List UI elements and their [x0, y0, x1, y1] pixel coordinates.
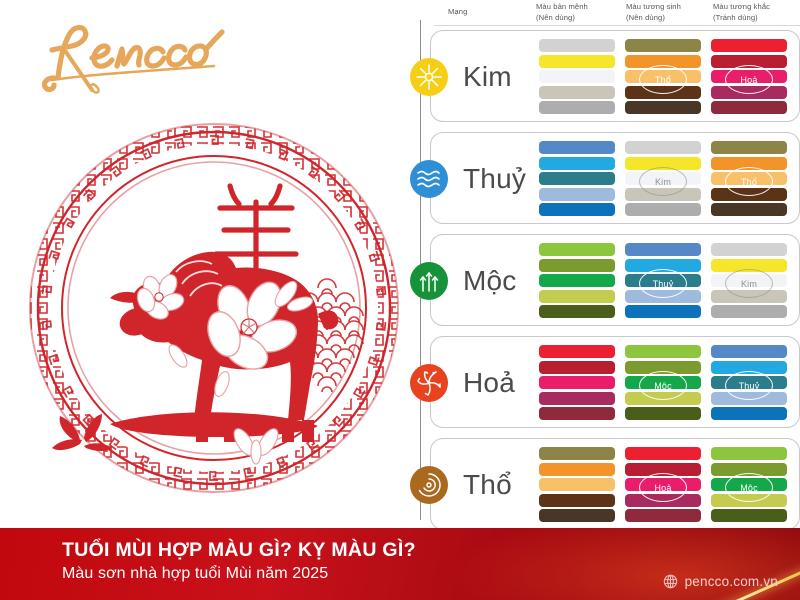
swatch[interactable] — [539, 407, 615, 420]
wood-sprout-icon — [407, 259, 451, 303]
swatch[interactable] — [711, 203, 787, 216]
swatch-group-kim-own[interactable] — [539, 39, 615, 114]
swatch[interactable] — [625, 243, 701, 256]
swatch[interactable] — [625, 188, 701, 201]
swatch[interactable] — [625, 376, 701, 389]
zodiac-goat-illustration — [18, 108, 410, 508]
swatch[interactable] — [625, 407, 701, 420]
swatch[interactable] — [539, 376, 615, 389]
table-row-hoa[interactable]: Hoả Mộc Thuỷ — [430, 336, 800, 428]
swatch[interactable] — [539, 290, 615, 303]
swatch[interactable] — [711, 305, 787, 318]
swatch[interactable] — [625, 55, 701, 68]
fire-burst-icon — [407, 361, 451, 405]
swatch[interactable] — [625, 259, 701, 272]
swatch[interactable] — [625, 39, 701, 52]
pencco-logo — [22, 16, 232, 94]
swatch[interactable] — [625, 101, 701, 114]
swatch[interactable] — [625, 274, 701, 287]
swatch[interactable] — [625, 463, 701, 476]
swatch[interactable] — [625, 361, 701, 374]
swatch[interactable] — [711, 188, 787, 201]
swatch[interactable] — [539, 345, 615, 358]
swatch[interactable] — [711, 243, 787, 256]
swatch[interactable] — [625, 141, 701, 154]
swatch[interactable] — [539, 86, 615, 99]
swatch-group-tho-conflicting[interactable]: Mộc — [711, 447, 787, 525]
swatch[interactable] — [711, 494, 787, 507]
swatch[interactable] — [539, 188, 615, 201]
swatch-group-thuy-conflicting[interactable]: Thổ — [711, 141, 787, 219]
swatch[interactable] — [711, 274, 787, 287]
banner-subtitle: Màu sơn nhà hợp tuổi Mùi năm 2025 — [62, 565, 328, 583]
header-supportive-colors: Màu tương sinh (Nên dùng) — [626, 2, 681, 23]
swatch[interactable] — [711, 39, 787, 52]
swatch-group-tho-own[interactable] — [539, 447, 615, 522]
element-name-thuy: Thuỷ — [463, 157, 526, 201]
swatch[interactable] — [711, 101, 787, 114]
swatch[interactable] — [711, 70, 787, 83]
swatch[interactable] — [711, 463, 787, 476]
swatch[interactable] — [711, 259, 787, 272]
swatch[interactable] — [539, 463, 615, 476]
swatch-group-hoa-own[interactable] — [539, 345, 615, 420]
swatch[interactable] — [539, 478, 615, 491]
swatch[interactable] — [711, 172, 787, 185]
swatch[interactable] — [539, 172, 615, 185]
swatch[interactable] — [539, 203, 615, 216]
swatch-group-moc-own[interactable] — [539, 243, 615, 318]
metal-sunburst-icon — [407, 55, 451, 99]
globe-icon — [663, 574, 678, 589]
header-own-element-colors: Màu bản mệnh (Nên dùng) — [536, 2, 588, 23]
swatch-group-hoa-conflicting[interactable]: Thuỷ — [711, 345, 787, 423]
earth-spiral-icon — [407, 463, 451, 507]
swatch-group-tho-supportive[interactable]: Hoả — [625, 447, 701, 525]
swatch[interactable] — [625, 157, 701, 170]
swatch-group-hoa-supportive[interactable]: Mộc — [625, 345, 701, 423]
swatch[interactable] — [625, 70, 701, 83]
swatch[interactable] — [539, 141, 615, 154]
swatch[interactable] — [539, 39, 615, 52]
swatch[interactable] — [539, 101, 615, 114]
element-name-kim: Kim — [463, 55, 512, 99]
swatch[interactable] — [625, 447, 701, 460]
swatch-group-thuy-supportive[interactable]: Kim — [625, 141, 701, 219]
swatch[interactable] — [625, 172, 701, 185]
water-waves-icon — [407, 157, 451, 201]
element-name-hoa: Hoả — [463, 361, 515, 405]
swatch[interactable] — [711, 407, 787, 420]
table-row-tho[interactable]: Thổ Hoả Mộc — [430, 438, 800, 530]
table-row-moc[interactable]: Mộc Thuỷ Kim — [430, 234, 800, 326]
swatch[interactable] — [539, 447, 615, 460]
swatch[interactable] — [625, 203, 701, 216]
swatch[interactable] — [539, 55, 615, 68]
swatch[interactable] — [711, 86, 787, 99]
swatch-group-moc-conflicting[interactable]: Kim — [711, 243, 787, 321]
swatch-group-thuy-own[interactable] — [539, 141, 615, 216]
site-url-text: pencco.com.vn — [685, 574, 778, 589]
swatch[interactable] — [539, 361, 615, 374]
swatch[interactable] — [539, 509, 615, 522]
element-name-moc: Mộc — [463, 259, 517, 303]
swatch-group-moc-supportive[interactable]: Thuỷ — [625, 243, 701, 321]
swatch[interactable] — [539, 274, 615, 287]
swatch[interactable] — [711, 478, 787, 491]
swatch-group-kim-supportive[interactable]: Thổ — [625, 39, 701, 117]
swatch[interactable] — [625, 345, 701, 358]
swatch[interactable] — [539, 70, 615, 83]
swatch[interactable] — [711, 345, 787, 358]
header-element: Mạng — [448, 7, 467, 18]
site-badge[interactable]: pencco.com.vn — [663, 574, 778, 589]
swatch[interactable] — [539, 157, 615, 170]
swatch[interactable] — [625, 305, 701, 318]
element-color-table: Mạng Màu bản mệnh (Nên dùng) Màu tương s… — [418, 0, 800, 528]
swatch[interactable] — [539, 494, 615, 507]
table-row-thuy[interactable]: Thuỷ Kim Thổ — [430, 132, 800, 224]
swatch[interactable] — [539, 305, 615, 318]
swatch[interactable] — [539, 259, 615, 272]
header-conflicting-colors: Màu tương khắc (Tránh dùng) — [713, 2, 770, 23]
swatch[interactable] — [625, 290, 701, 303]
bottom-banner: TUỔI MÙI HỢP MÀU GÌ? KỴ MÀU GÌ? Màu sơn … — [0, 528, 800, 600]
swatch[interactable] — [625, 86, 701, 99]
swatch[interactable] — [625, 509, 701, 522]
swatch[interactable] — [711, 509, 787, 522]
swatch[interactable] — [711, 157, 787, 170]
swatch-group-kim-conflicting[interactable]: Hoả — [711, 39, 787, 117]
swatch[interactable] — [625, 392, 701, 405]
swatch[interactable] — [711, 447, 787, 460]
swatch[interactable] — [711, 290, 787, 303]
swatch[interactable] — [711, 55, 787, 68]
swatch[interactable] — [711, 141, 787, 154]
table-row-kim[interactable]: Kim Thổ Hoả — [430, 30, 800, 122]
header-divider — [434, 25, 800, 26]
swatch[interactable] — [711, 361, 787, 374]
swatch[interactable] — [539, 392, 615, 405]
element-name-tho: Thổ — [463, 463, 512, 507]
swatch[interactable] — [539, 243, 615, 256]
swatch[interactable] — [711, 376, 787, 389]
swatch[interactable] — [711, 392, 787, 405]
swatch[interactable] — [625, 478, 701, 491]
banner-title: TUỔI MÙI HỢP MÀU GÌ? KỴ MÀU GÌ? — [62, 539, 416, 562]
table-column-headers: Mạng Màu bản mệnh (Nên dùng) Màu tương s… — [418, 0, 800, 26]
swatch[interactable] — [625, 494, 701, 507]
